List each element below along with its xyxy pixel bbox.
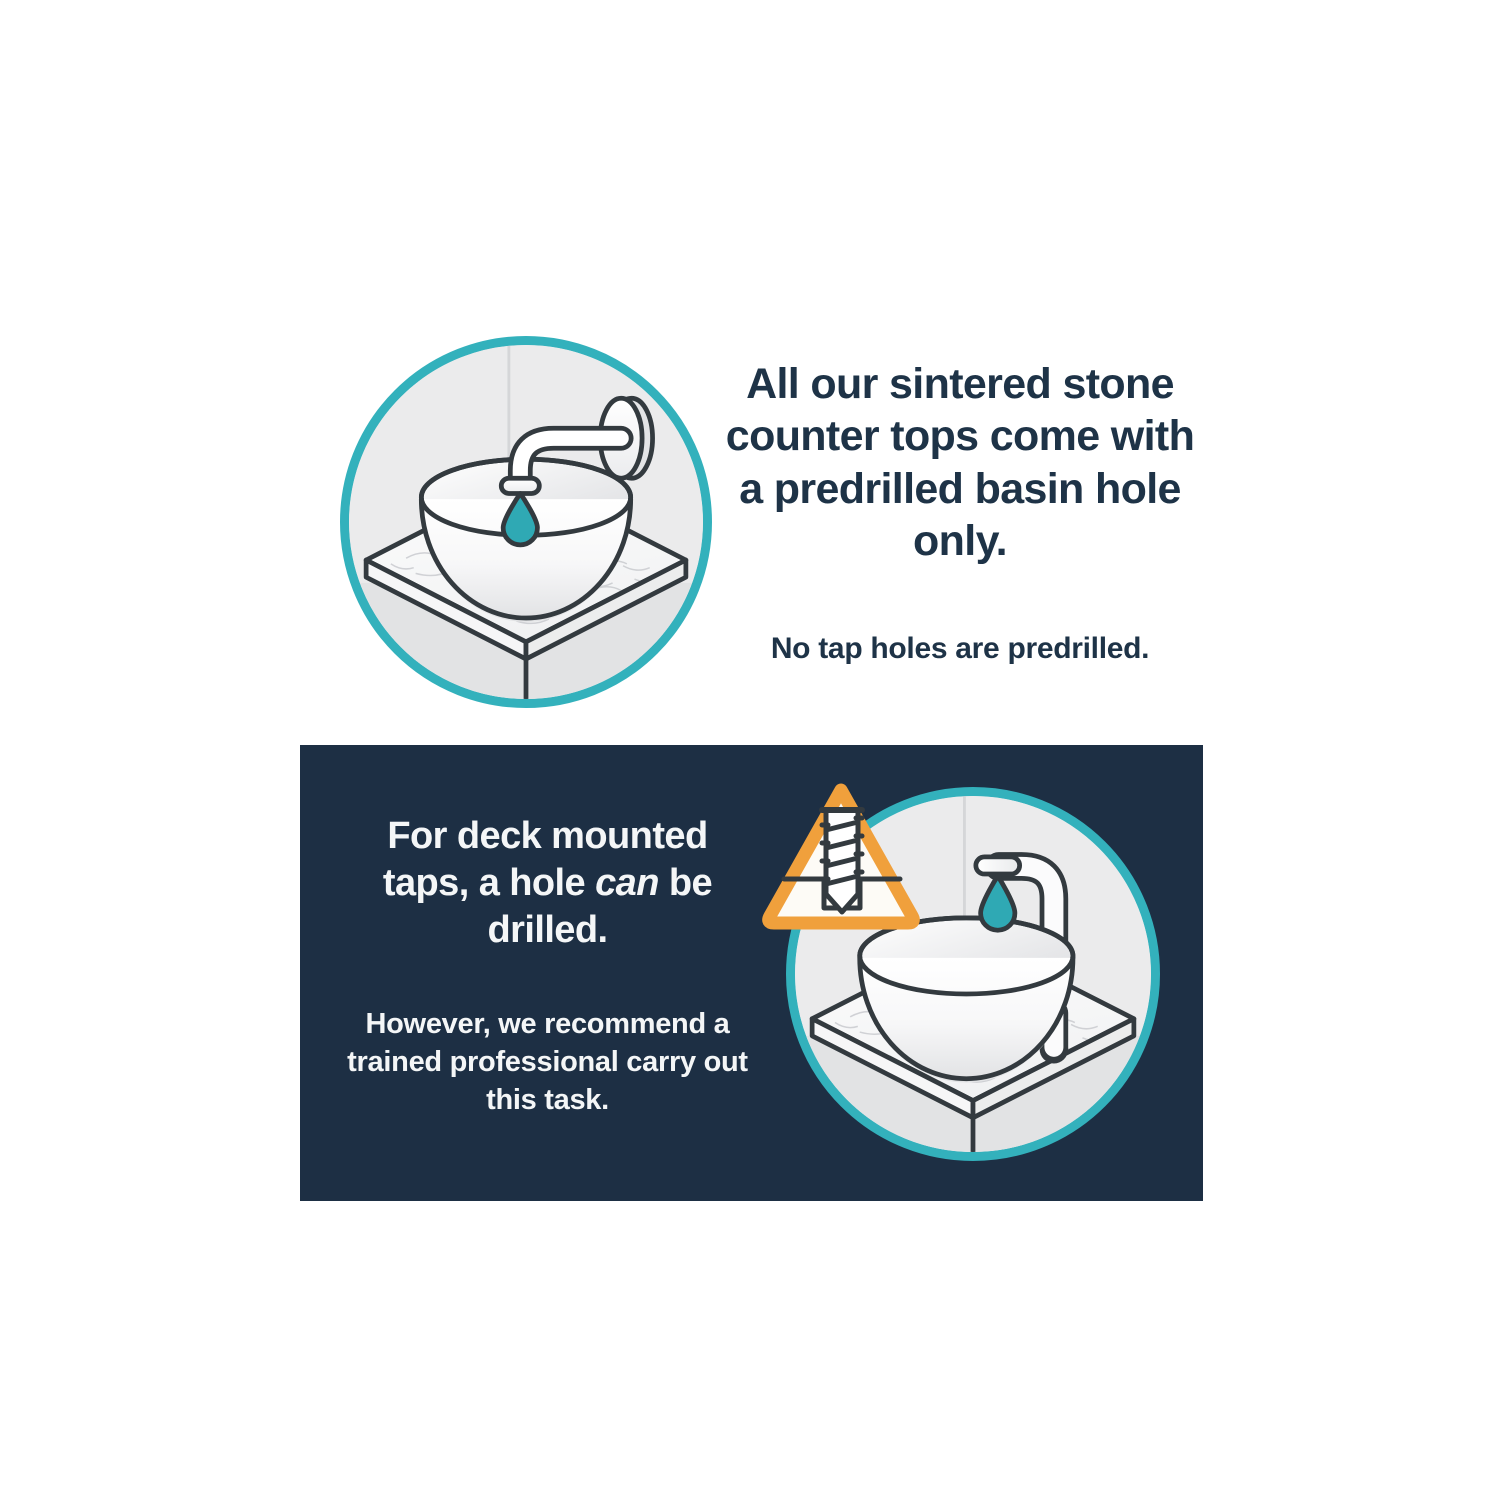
top-heading: All our sintered stone counter tops come… bbox=[715, 358, 1205, 568]
drill-warning-triangle-icon bbox=[762, 782, 920, 930]
bottom-subtext: However, we recommend a trained professi… bbox=[345, 954, 750, 1119]
drill-warning-triangle bbox=[762, 782, 920, 930]
bottom-heading: For deck mounted taps, a hole can be dri… bbox=[345, 813, 750, 954]
top-subtext: No tap holes are predrilled. bbox=[715, 568, 1205, 668]
top-text-block: All our sintered stone counter tops come… bbox=[715, 358, 1205, 668]
wall-mounted-tap-illustration bbox=[340, 336, 712, 708]
top-section: All our sintered stone counter tops come… bbox=[0, 0, 1500, 745]
bottom-text-block: For deck mounted taps, a hole can be dri… bbox=[345, 813, 750, 1119]
tap-spout-tip bbox=[976, 857, 1020, 874]
wall-mounted-tap-scene bbox=[349, 345, 703, 699]
bottom-heading-emphasis: can bbox=[595, 862, 659, 904]
infographic-canvas: All our sintered stone counter tops come… bbox=[0, 0, 1500, 1500]
